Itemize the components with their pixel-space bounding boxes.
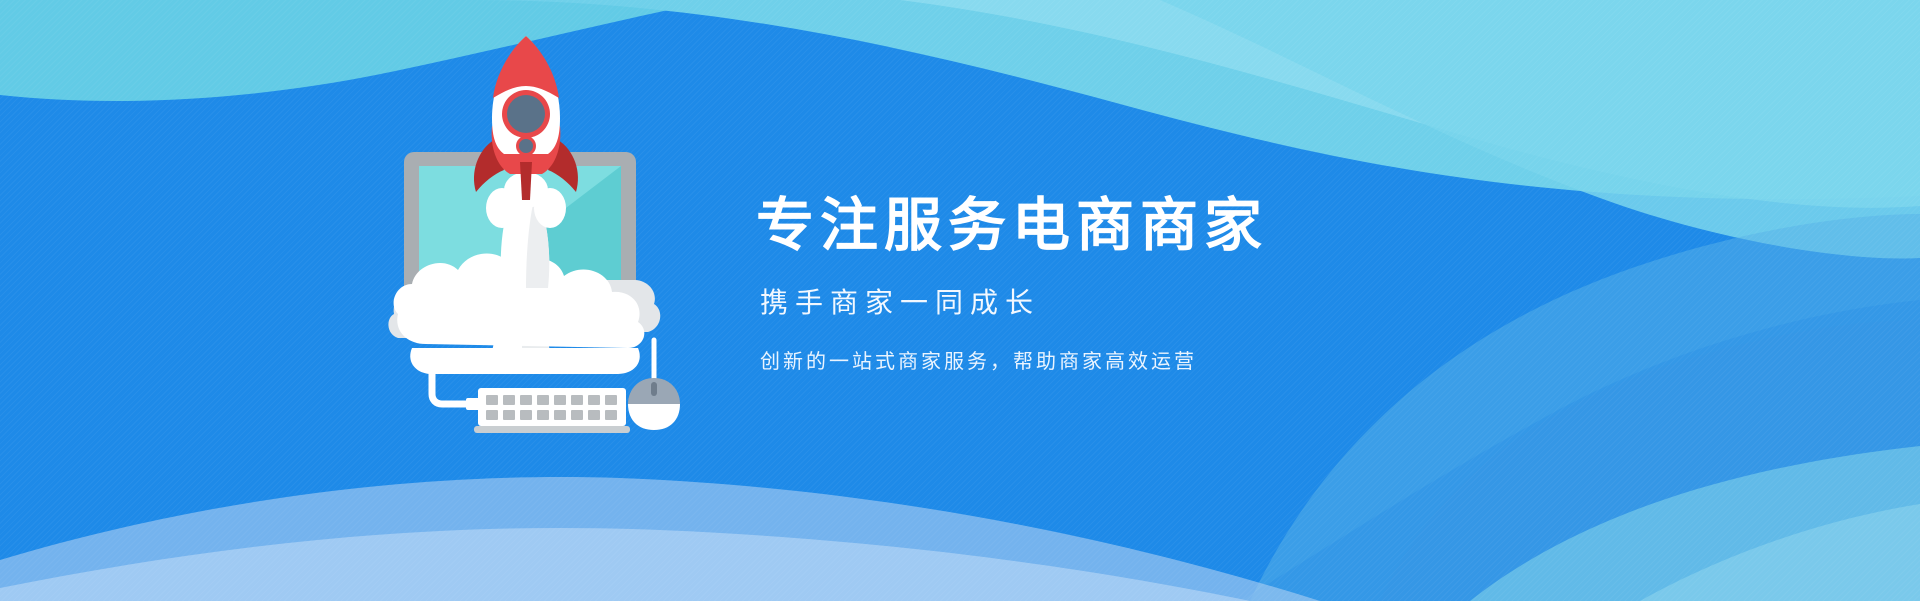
rocket-window: [507, 95, 545, 133]
keyboard-cable-plug: [466, 398, 480, 410]
mouse-wheel: [651, 382, 657, 396]
banner-headline: 专注服务电商商家: [756, 196, 1456, 257]
rocket-monitor-illustration: [386, 22, 686, 442]
mouse: [628, 378, 680, 430]
smoke-cloud-lower: [410, 348, 640, 374]
mouse-bottom: [628, 404, 680, 430]
banner-subheadline: 携手商家一同成长: [760, 281, 1456, 321]
rocket-small-window: [519, 139, 533, 153]
banner-copy-block: 专注服务电商商家 携手商家一同成长 创新的一站式商家服务，帮助商家高效运营: [756, 196, 1456, 374]
keyboard-base: [474, 426, 630, 433]
promo-banner: 专注服务电商商家 携手商家一同成长 创新的一站式商家服务，帮助商家高效运营: [0, 0, 1920, 601]
rocket-nozzle: [520, 162, 532, 200]
keyboard-body: [478, 388, 626, 426]
illustration-svg: [386, 22, 686, 442]
banner-tagline: 创新的一站式商家服务，帮助商家高效运营: [760, 345, 1456, 374]
rocket: [474, 36, 578, 200]
